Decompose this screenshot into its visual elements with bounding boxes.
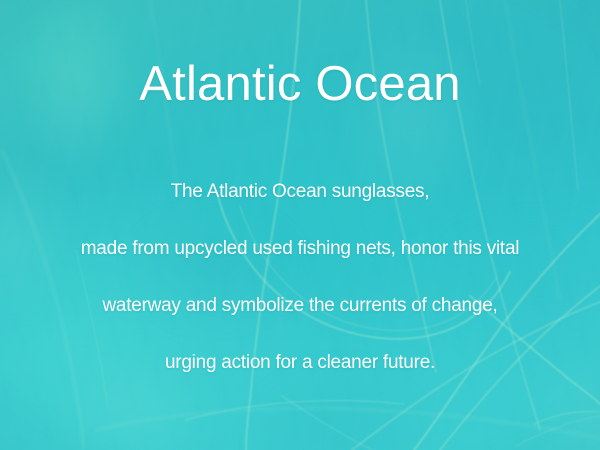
description-line-3: waterway and symbolize the currents of c…: [0, 277, 600, 334]
page-title: Atlantic Ocean: [0, 58, 600, 111]
slide-content: Atlantic Ocean The Atlantic Ocean sungla…: [0, 0, 600, 450]
description-line-1: The Atlantic Ocean sunglasses,: [0, 163, 600, 220]
description-line-2: made from upcycled used fishing nets, ho…: [0, 220, 600, 277]
description-block: The Atlantic Ocean sunglasses, made from…: [0, 163, 600, 391]
slide-canvas: Atlantic Ocean The Atlantic Ocean sungla…: [0, 0, 600, 450]
description-line-4: urging action for a cleaner future.: [0, 334, 600, 391]
